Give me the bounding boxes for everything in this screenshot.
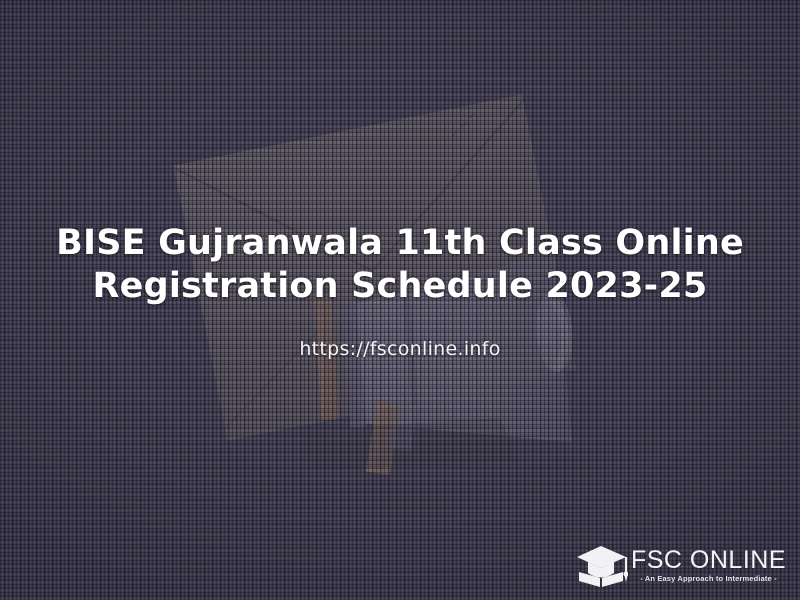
poster-canvas: BISE Gujranwala 11th Class Online Regist…: [0, 0, 800, 600]
page-title: BISE Gujranwala 11th Class Online Regist…: [0, 222, 800, 308]
page-title-line-2: Registration Schedule 2023-25: [0, 265, 800, 308]
page-title-line-1: BISE Gujranwala 11th Class Online: [0, 222, 800, 265]
brand-tagline: - An Easy Approach to Intermediate -: [640, 574, 777, 584]
brand-logo: FSC ONLINE - An Easy Approach to Interme…: [576, 542, 786, 588]
brand-name: FSC ONLINE: [631, 547, 786, 573]
brand-text-block: FSC ONLINE - An Easy Approach to Interme…: [631, 547, 786, 584]
website-url: https://fsconline.info: [0, 338, 800, 360]
graduation-cap-icon: [576, 542, 628, 588]
